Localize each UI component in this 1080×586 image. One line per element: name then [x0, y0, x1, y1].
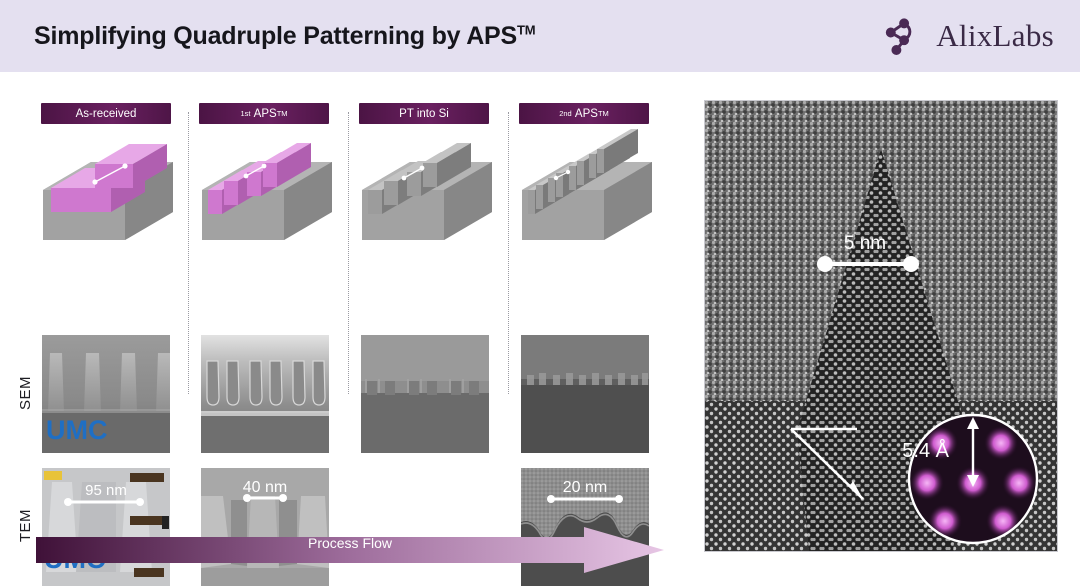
- column-header-first-aps: 1st APSTM: [199, 103, 329, 124]
- page-title-text: Simplifying Quadruple Patterning by APS: [34, 22, 517, 50]
- page-title: Simplifying Quadruple Patterning by APST…: [34, 22, 535, 51]
- column-divider-1: [188, 112, 189, 394]
- hrtem-micrograph: 5 nm: [704, 100, 1058, 552]
- column-header-second-aps: 2nd APSTM: [519, 103, 649, 124]
- tem-measurement-label-1: 95 nm: [85, 482, 127, 499]
- column-header-pt-into-si: PT into Si: [359, 103, 489, 124]
- trademark-superscript: TM: [517, 22, 535, 37]
- schematic-pt-into-si: [352, 128, 502, 246]
- tem-measurement-label-2: 40 nm: [243, 479, 287, 496]
- hrtem-image: 5 nm: [705, 101, 1057, 551]
- tem-measurement-label-4: 20 nm: [563, 479, 607, 496]
- process-flow-arrow: [36, 527, 664, 573]
- hrtem-scale-label: 5 nm: [844, 233, 886, 254]
- brand-name: AlixLabs: [936, 18, 1054, 54]
- alixlabs-node-logo-icon: [881, 15, 923, 57]
- schematic-as-received: [33, 128, 183, 246]
- page-header: Simplifying Quadruple Patterning by APST…: [0, 0, 1080, 72]
- sem-as-received: UMC: [42, 335, 170, 453]
- hrtem-lattice-label: 5.4 Å: [902, 439, 949, 462]
- brand-lockup: AlixLabs: [881, 15, 1054, 57]
- schematic-second-aps: [512, 128, 662, 246]
- trademark-superscript: TM: [277, 109, 288, 118]
- column-divider-2: [348, 112, 349, 394]
- schematic-first-aps: [192, 128, 342, 246]
- row-label-sem: SEM: [8, 334, 34, 452]
- sem-second-aps: [521, 335, 649, 453]
- column-divider-3: [508, 112, 509, 394]
- column-header-as-received: As-received: [41, 103, 171, 124]
- trademark-superscript: TM: [598, 109, 609, 118]
- sem-first-aps: [201, 335, 329, 453]
- row-label-tem: TEM: [8, 467, 34, 585]
- process-matrix: SEM TEM As-received 1st APSTM PT into Si…: [0, 72, 690, 578]
- umc-watermark: UMC: [46, 415, 108, 445]
- figure-canvas: SEM TEM As-received 1st APSTM PT into Si…: [0, 72, 1080, 578]
- sem-pt-into-si: [361, 335, 489, 453]
